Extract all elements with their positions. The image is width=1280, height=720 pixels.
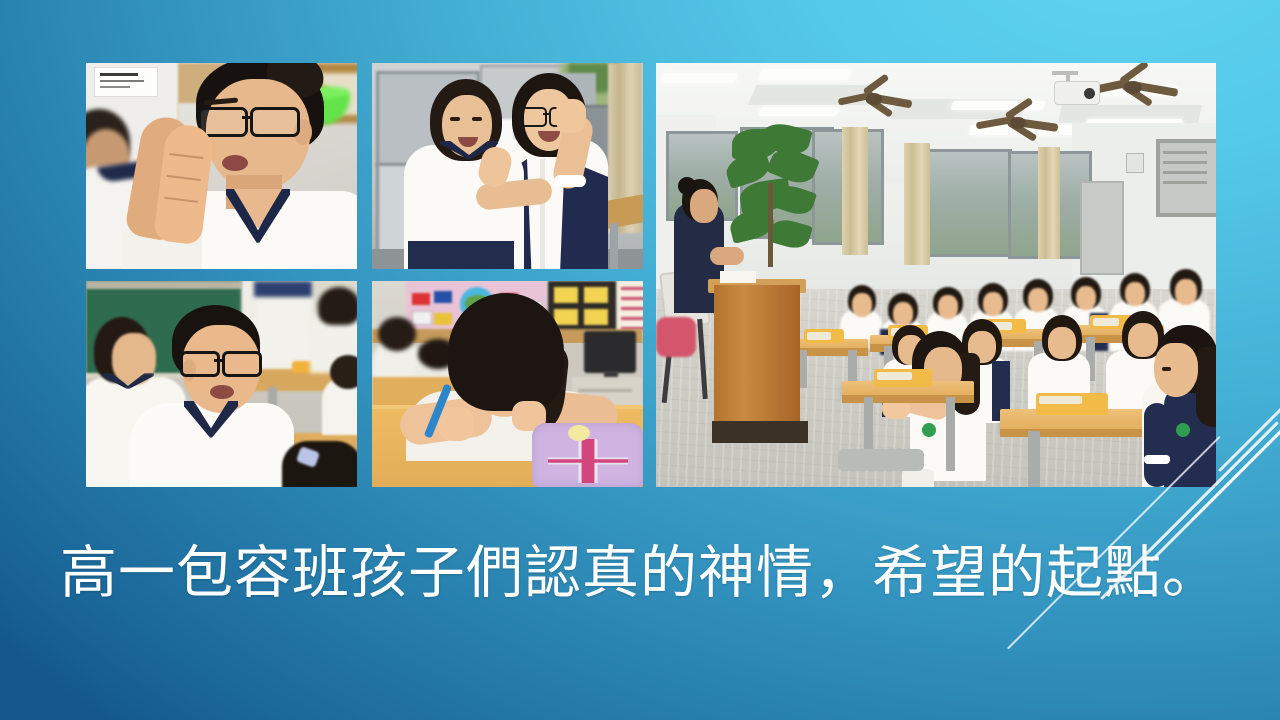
photo-boy-turning: [86, 281, 357, 487]
wall-clock-icon: [1126, 153, 1144, 173]
photo-classroom: [656, 63, 1216, 487]
slide-caption: 高一包容班孩子們認真的神情，希望的起點。: [0, 538, 1280, 609]
slide-canvas: 高一包容班孩子們認真的神情，希望的起點。: [0, 0, 1280, 720]
ceiling-fan-icon: [976, 101, 1058, 145]
glasses-icon: [180, 351, 264, 371]
projector-icon: [1054, 81, 1100, 105]
pencil-case: [532, 423, 643, 487]
student-foreground: [1126, 323, 1216, 487]
photo-two-girls: [372, 63, 643, 269]
ceiling-fan-icon: [838, 79, 912, 119]
desk-footrest: [838, 449, 924, 471]
lectern: [714, 285, 800, 437]
glasses-icon: [198, 107, 302, 131]
photo-student-clapping: [86, 63, 357, 269]
photo-girl-writing: [372, 281, 643, 487]
